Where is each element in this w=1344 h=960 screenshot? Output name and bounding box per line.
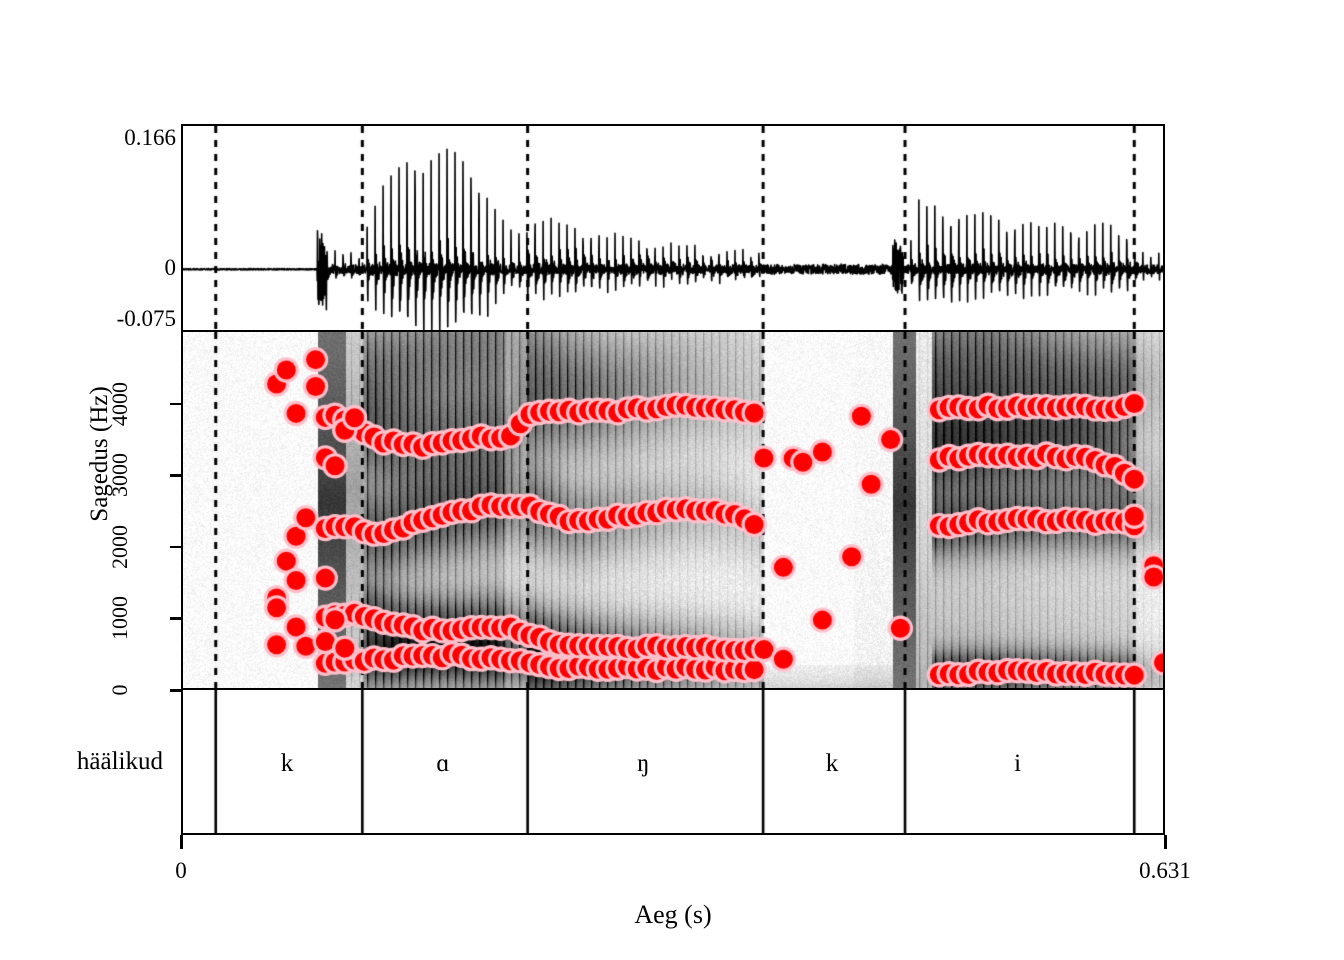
time-tick-mark (1164, 835, 1167, 849)
spectrogram-panel (181, 332, 1165, 690)
segment-label: ŋ (637, 750, 649, 778)
time-axis-title: Aeg (s) (181, 900, 1165, 930)
frequency-tick-mark (170, 474, 181, 477)
frequency-tick-mark (170, 403, 181, 406)
frequency-tick-mark (170, 689, 181, 692)
frequency-tick-label: 0 (107, 685, 133, 696)
segment-label: k (281, 750, 294, 778)
waveform-yzero-label: 0 (165, 255, 177, 281)
time-tick-label: 0 (175, 858, 187, 884)
waveform-panel (181, 124, 1165, 332)
segment-label: k (826, 750, 839, 778)
segment-label: i (1014, 750, 1021, 778)
spectrogram-figure: 0.166 0 -0.075 Sagedus (Hz) häälikud Aeg… (0, 0, 1344, 960)
waveform-ymax-label: 0.166 (124, 125, 176, 151)
time-tick-mark (180, 835, 183, 849)
segment-label: ɑ (436, 750, 449, 778)
time-tick-label: 0.631 (1139, 858, 1191, 884)
frequency-tick-label: 1000 (107, 596, 133, 640)
frequency-tick-mark (170, 546, 181, 549)
frequency-tick-label: 3000 (107, 453, 133, 497)
frequency-tick-mark (170, 617, 181, 620)
frequency-tick-label: 4000 (107, 382, 133, 426)
formant-track-canvas (183, 332, 1165, 690)
waveform-ymin-label: -0.075 (117, 306, 176, 332)
frequency-tick-label: 2000 (107, 525, 133, 569)
tier-name-label: häälikud (77, 748, 163, 776)
waveform-canvas (183, 126, 1165, 332)
